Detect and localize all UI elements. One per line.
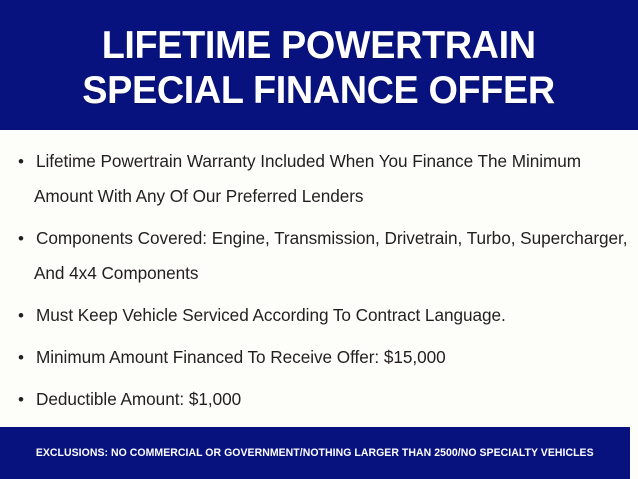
page-title-line-1: LIFETIME POWERTRAIN: [102, 23, 536, 68]
bullet-dot-icon: •: [8, 144, 34, 179]
header-banner: LIFETIME POWERTRAIN SPECIAL FINANCE OFFE…: [0, 0, 638, 130]
bullet-dot-icon: •: [8, 221, 34, 256]
offer-bullet-list: • Lifetime Powertrain Warranty Included …: [8, 144, 630, 459]
list-item-label: Minimum Amount Financed To Receive Offer…: [34, 340, 630, 375]
exclusions-text: EXCLUSIONS: NO COMMERCIAL OR GOVERNMENT/…: [36, 447, 594, 459]
list-item: • Lifetime Powertrain Warranty Included …: [8, 144, 630, 214]
list-item: • Deductible Amount: $1,000: [8, 382, 630, 417]
list-item: • Components Covered: Engine, Transmissi…: [8, 221, 630, 291]
bullet-dot-icon: •: [8, 340, 34, 375]
list-item-label: Lifetime Powertrain Warranty Included Wh…: [34, 144, 630, 214]
bullet-dot-icon: •: [8, 382, 34, 417]
list-item-label: Must Keep Vehicle Serviced According To …: [34, 298, 630, 333]
exclusions-footer-bar: EXCLUSIONS: NO COMMERCIAL OR GOVERNMENT/…: [0, 427, 630, 479]
page-title-line-2: SPECIAL FINANCE OFFER: [83, 68, 555, 113]
offer-slide: LIFETIME POWERTRAIN SPECIAL FINANCE OFFE…: [0, 0, 638, 479]
list-item-label: Components Covered: Engine, Transmission…: [34, 221, 630, 291]
list-item-label: Deductible Amount: $1,000: [34, 382, 630, 417]
bullet-dot-icon: •: [8, 298, 34, 333]
list-item: • Minimum Amount Financed To Receive Off…: [8, 340, 630, 375]
list-item: • Must Keep Vehicle Serviced According T…: [8, 298, 630, 333]
